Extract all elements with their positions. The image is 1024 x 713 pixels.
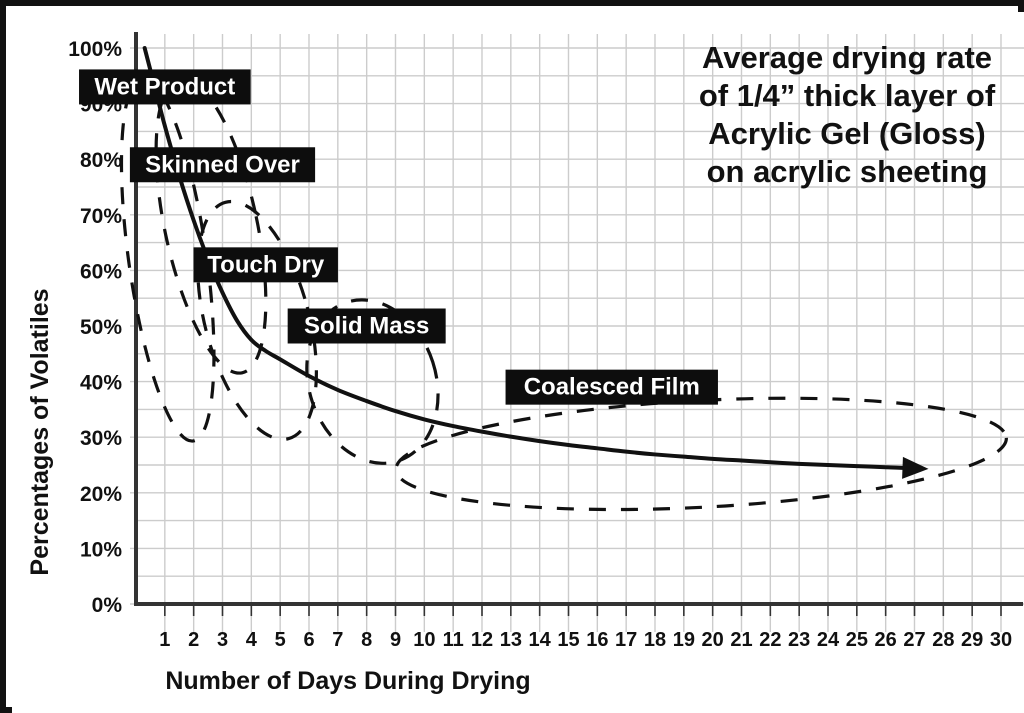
x-axis-tick-label: 30 [990,629,1012,651]
y-axis-tick-label: 20% [80,483,122,506]
chart-title-line: on acrylic sheeting [707,154,988,189]
x-axis-tick-label: 14 [529,629,552,651]
y-axis-tick-label: 40% [80,372,122,395]
x-axis-tick-label: 12 [471,629,493,651]
x-axis-tick-label: 29 [961,629,983,651]
x-axis-tick-label: 15 [557,629,579,651]
x-axis-tick-label: 7 [332,629,343,651]
y-axis-title: Percentages of Volatiles [26,288,54,575]
x-axis-tick-label: 27 [903,629,925,651]
y-axis-tick-label: 30% [80,427,122,450]
y-axis-tick-label: 0% [92,594,123,617]
x-axis-tick-label: 9 [390,629,401,651]
stage-region-ellipse [393,385,1009,524]
stage-annotation-label: Coalesced Film [524,374,700,401]
x-axis-tick-label: 26 [875,629,897,651]
y-axis-tick-label: 70% [80,205,122,228]
x-axis-tick-label: 28 [932,629,954,651]
stage-annotation-label: Touch Dry [207,251,325,278]
y-axis-tick-label: 60% [80,260,122,283]
x-axis-tick-label: 21 [730,629,752,651]
x-axis-tick-label: 5 [275,629,286,651]
x-axis-tick-label: 24 [817,629,840,651]
chart-title-line: Acrylic Gel (Gloss) [708,116,985,151]
y-axis-tick-label: 50% [80,316,122,339]
x-axis-tick-label: 4 [246,629,258,651]
drying-rate-chart: 0%10%20%30%40%50%60%70%80%90%100% 123456… [12,12,1024,713]
chart-title: Average drying rateof 1/4” thick layer o… [699,40,996,189]
x-axis-tick-label: 23 [788,629,810,651]
x-axis-title: Number of Days During Drying [165,667,530,695]
chart-title-line: Average drying rate [702,40,992,75]
y-axis-tick-label: 10% [80,538,122,561]
x-axis-tick-labels: 1234567891011121314151617181920212223242… [159,629,1012,651]
x-axis-tick-label: 1 [159,629,170,651]
x-axis-tick-label: 13 [500,629,522,651]
x-axis-tick-label: 11 [443,629,464,651]
chart-border-frame: 0%10%20%30%40%50%60%70%80%90%100% 123456… [0,0,1024,713]
x-axis-tick-label: 10 [413,629,435,651]
x-axis-tick-label: 22 [759,629,781,651]
x-axis-tick-label: 25 [846,629,868,651]
x-axis-tick-label: 16 [586,629,608,651]
chart-title-line: of 1/4” thick layer of [699,78,996,113]
y-axis-tick-label: 80% [80,149,122,172]
stage-annotation: Solid Mass [288,309,446,344]
x-axis-tick-label: 17 [615,629,637,651]
stage-annotation: Skinned Over [130,147,315,182]
stage-annotation: Touch Dry [194,247,338,282]
x-axis-tick-label: 3 [217,629,228,651]
stage-annotation-label: Skinned Over [145,151,300,178]
x-axis-tick-label: 20 [702,629,724,651]
x-axis-tick-label: 19 [673,629,695,651]
stage-region-ellipse [135,69,288,382]
chart-canvas: 0%10%20%30%40%50%60%70%80%90%100% 123456… [12,12,1024,713]
stage-annotation-label: Wet Product [94,73,235,100]
x-axis-tick-label: 2 [188,629,199,651]
stage-annotation-label: Solid Mass [304,313,429,340]
stage-annotation: Coalesced Film [506,370,718,405]
y-axis-tick-labels: 0%10%20%30%40%50%60%70%80%90%100% [68,38,122,617]
stage-annotation: Wet Product [79,69,251,104]
x-axis-tick-label: 6 [303,629,314,651]
y-axis-tick-label: 100% [68,38,122,61]
x-axis-tick-label: 8 [361,629,372,651]
x-axis-tick-label: 18 [644,629,666,651]
curve-arrowhead [902,457,928,479]
